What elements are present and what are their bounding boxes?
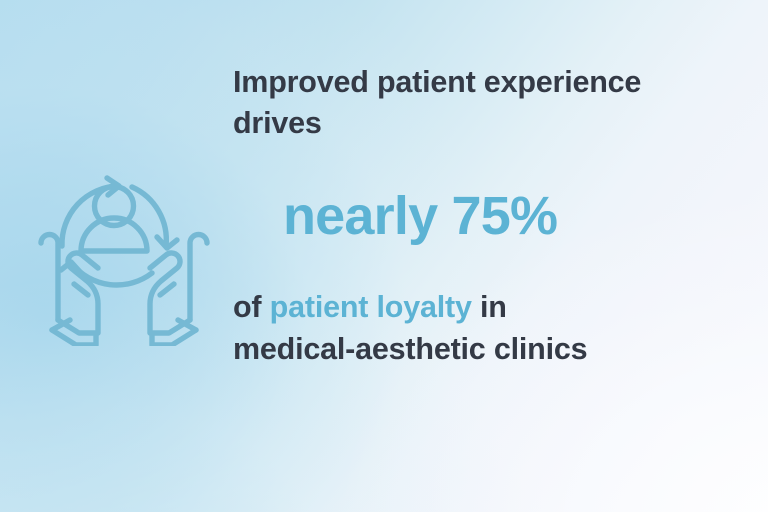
headline-lead-text: Improved patient experience drives: [233, 62, 738, 145]
headline-tail-after: in: [472, 290, 507, 324]
cycle-arrows-icon: [61, 178, 177, 285]
headline-block: Improved patient experience drives nearl…: [233, 62, 753, 370]
headline-tail-before: of: [233, 290, 270, 324]
hands-care-cycle-icon: [24, 134, 224, 346]
headline-tail-line2: medical-aesthetic clinics: [233, 329, 738, 370]
headline-stat-text: nearly 75%: [283, 187, 753, 245]
infographic-card: Improved patient experience drives nearl…: [0, 0, 768, 512]
headline-tail-text: of patient loyalty inmedical-aesthetic c…: [233, 287, 738, 370]
right-hand-icon: [150, 235, 207, 346]
headline-tail-accent: patient loyalty: [270, 290, 472, 324]
